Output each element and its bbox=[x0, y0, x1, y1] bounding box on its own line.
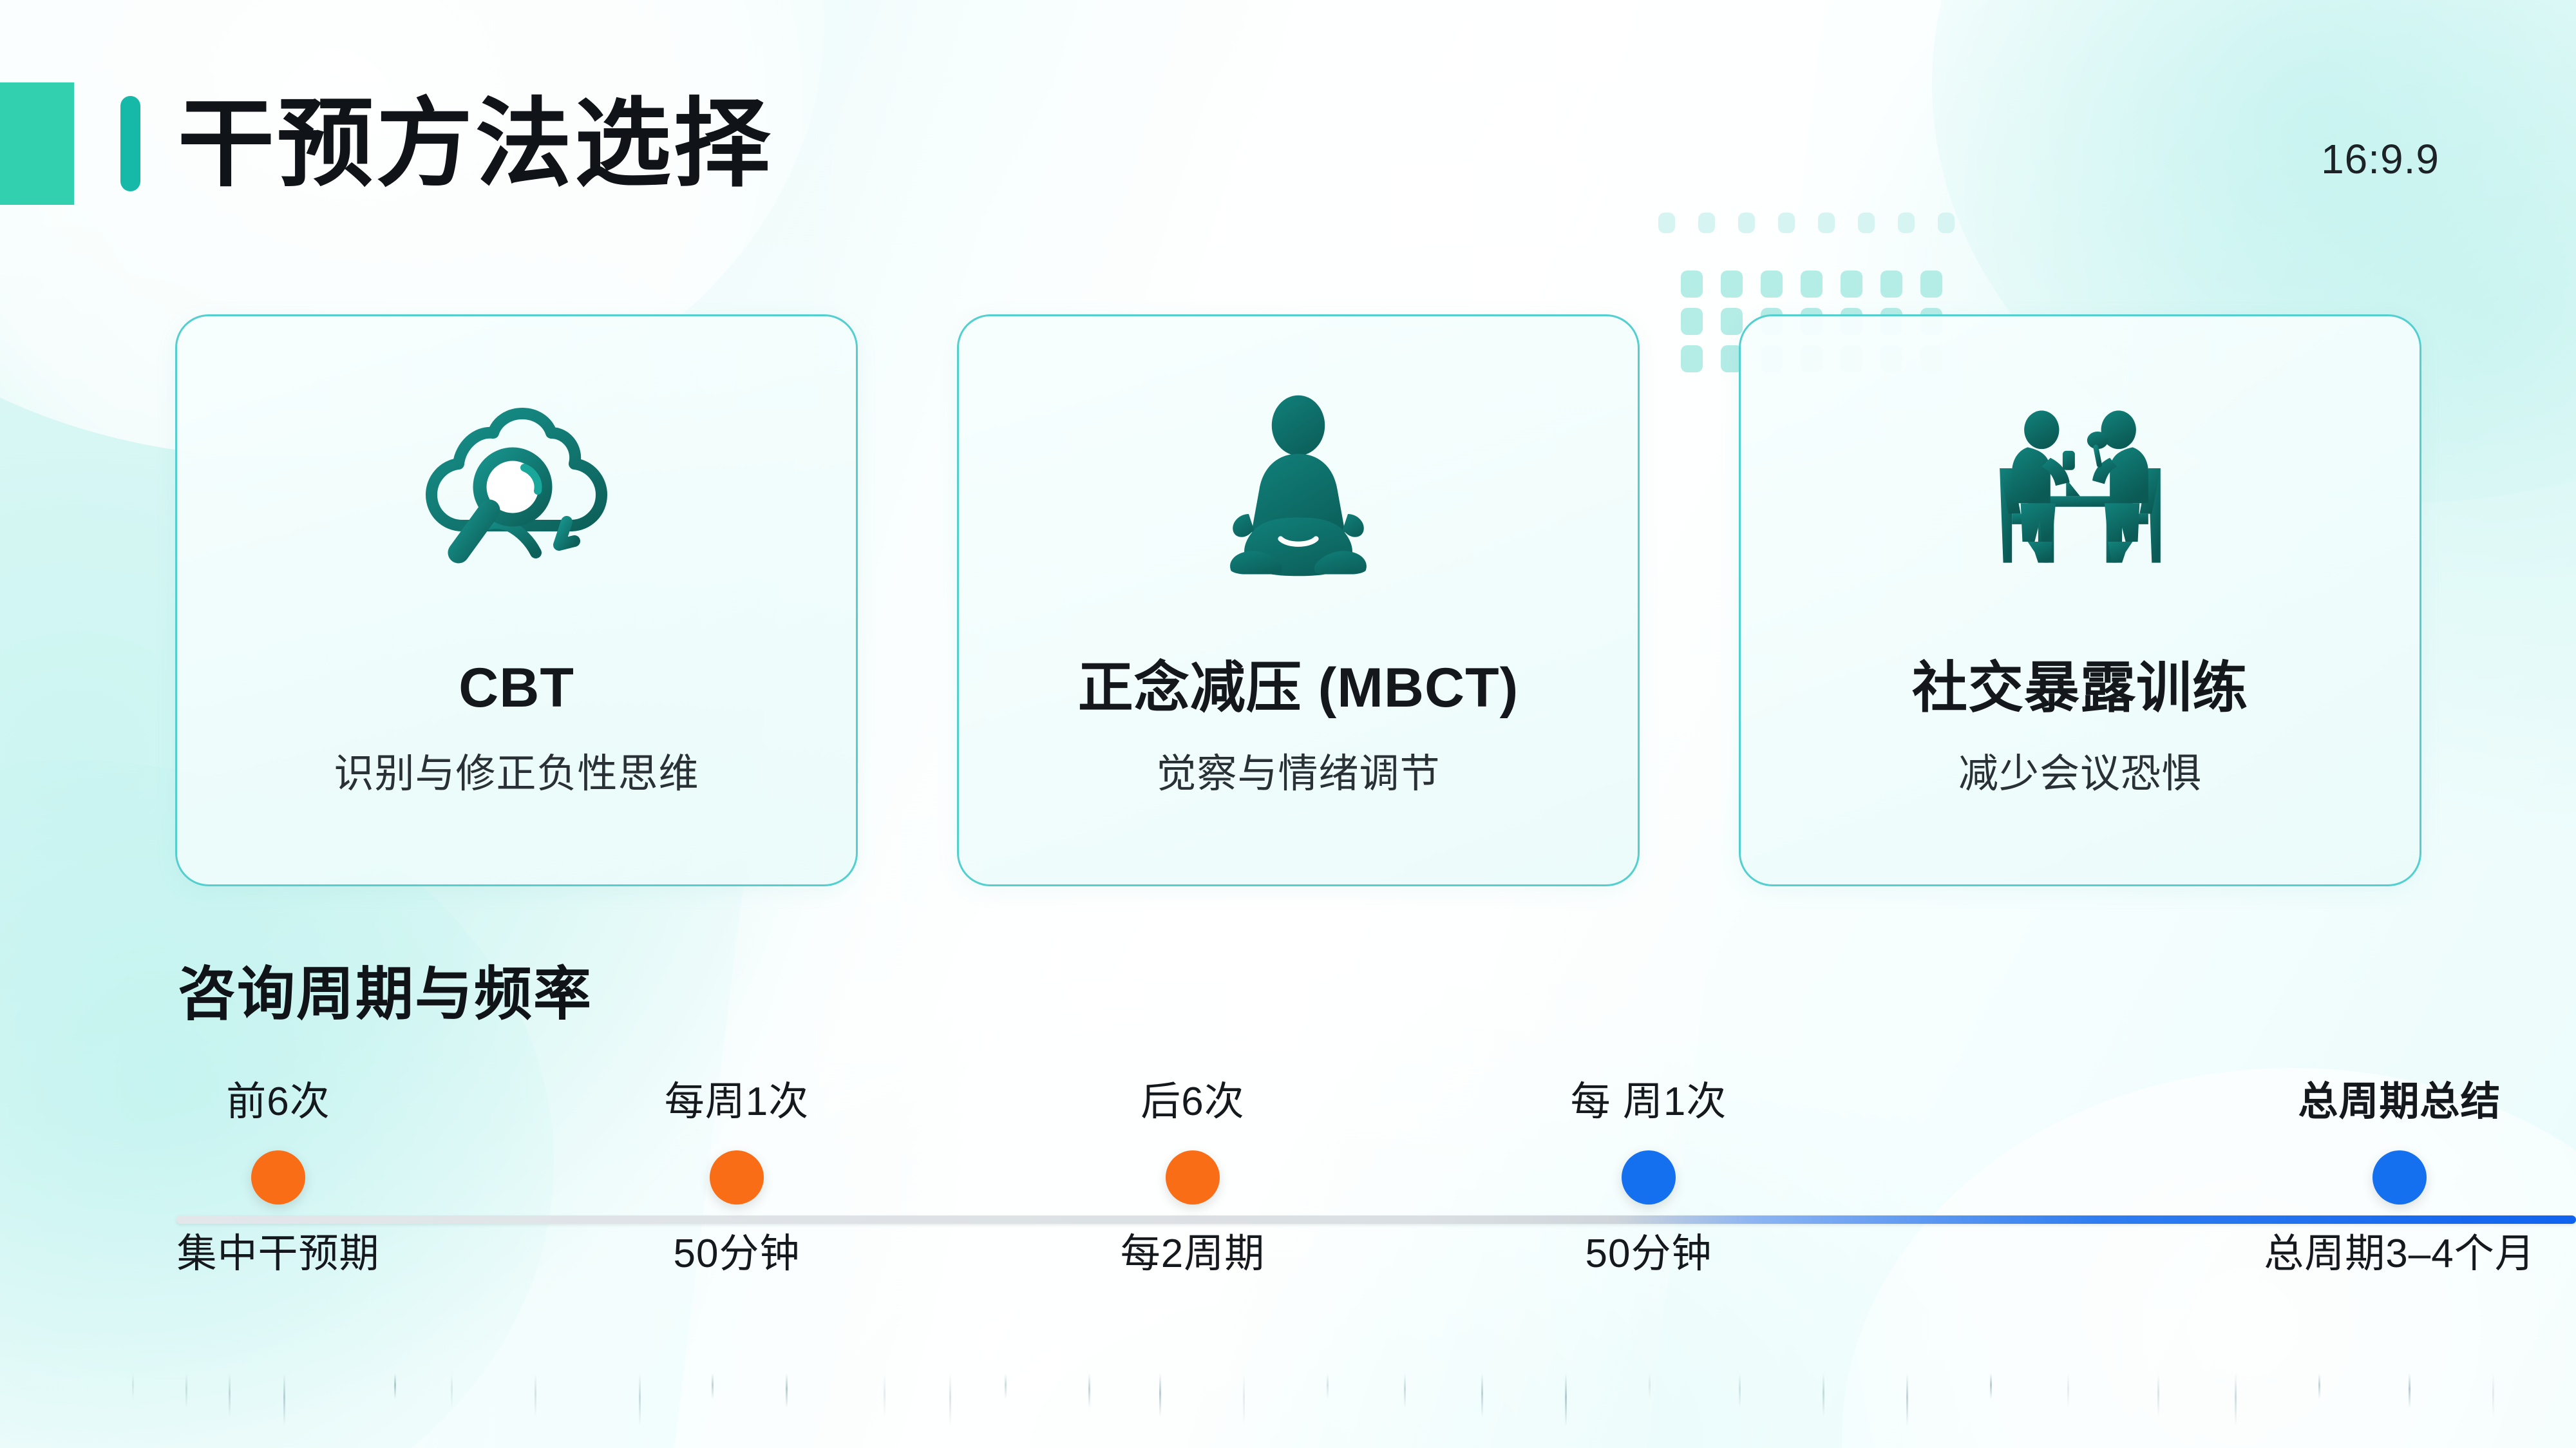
timeline-node-dot[interactable] bbox=[2372, 1150, 2427, 1205]
slide-root: 干预方法选择 16:9.9 bbox=[0, 0, 2576, 1448]
accent-bar bbox=[120, 96, 140, 191]
method-card-cbt[interactable]: CBT 识别与修正负性思维 bbox=[175, 314, 858, 886]
accent-block bbox=[0, 82, 74, 205]
header: 干预方法选择 bbox=[0, 82, 773, 205]
timeline-node-top-label: 每周1次 bbox=[569, 1082, 904, 1122]
method-card-social-exposure[interactable]: 社交暴露训练 减少会议恐惧 bbox=[1739, 314, 2421, 886]
timeline-node-dot[interactable] bbox=[251, 1150, 305, 1205]
two-people-table-icon bbox=[1958, 370, 2202, 615]
brain-magnifier-icon bbox=[401, 370, 632, 615]
meditation-lotus-icon bbox=[1192, 370, 1405, 615]
timeline-node-bottom-label: 50分钟 bbox=[569, 1234, 904, 1274]
timeline-node[interactable]: 总周期总结总周期3–4个月 bbox=[2232, 1082, 2567, 1274]
timeline-node[interactable]: 前6次集中干预期 bbox=[111, 1082, 446, 1274]
schedule-timeline: 前6次集中干预期每周1次50分钟后6次每2周期每 周1次50分钟总周期总结总周期… bbox=[0, 1082, 2576, 1353]
timeline-node[interactable]: 每 周1次50分钟 bbox=[1481, 1082, 1816, 1274]
timeline-node-bottom-label: 总周期3–4个月 bbox=[2232, 1234, 2567, 1274]
method-card-subtitle: 识别与修正负性思维 bbox=[334, 741, 699, 799]
aspect-ratio-label: 16:9.9 bbox=[2321, 135, 2439, 183]
timeline-rail bbox=[176, 1215, 2576, 1224]
timeline-node[interactable]: 每周1次50分钟 bbox=[569, 1082, 904, 1274]
method-card-mbct[interactable]: 正念减压 (MBCT) 觉察与情绪调节 bbox=[957, 314, 1640, 886]
timeline-node-dot[interactable] bbox=[1166, 1150, 1220, 1205]
timeline-node-top-label: 后6次 bbox=[1025, 1082, 1360, 1122]
timeline-node-bottom-label: 每2周期 bbox=[1025, 1234, 1360, 1274]
timeline-node-dot[interactable] bbox=[710, 1150, 764, 1205]
method-card-list: CBT 识别与修正负性思维 bbox=[175, 314, 2421, 886]
timeline-node-bottom-label: 集中干预期 bbox=[111, 1234, 446, 1274]
timeline-node-top-label: 每 周1次 bbox=[1481, 1082, 1816, 1122]
timeline-node-top-label: 总周期总结 bbox=[2232, 1082, 2567, 1122]
method-card-title: 正念减压 (MBCT) bbox=[1078, 658, 1519, 719]
timeline-node-top-label: 前6次 bbox=[111, 1082, 446, 1122]
page-title: 干预方法选择 bbox=[178, 95, 773, 192]
method-card-title: 社交暴露训练 bbox=[1912, 658, 2248, 719]
timeline-node[interactable]: 后6次每2周期 bbox=[1025, 1082, 1360, 1274]
method-card-subtitle: 觉察与情绪调节 bbox=[1156, 741, 1440, 799]
timeline-node-dot[interactable] bbox=[1622, 1150, 1676, 1205]
method-card-title: CBT bbox=[459, 658, 574, 719]
method-card-subtitle: 减少会议恐惧 bbox=[1958, 741, 2202, 799]
schedule-section-title: 咨询周期与频率 bbox=[178, 947, 592, 1031]
timeline-node-bottom-label: 50分钟 bbox=[1481, 1234, 1816, 1274]
